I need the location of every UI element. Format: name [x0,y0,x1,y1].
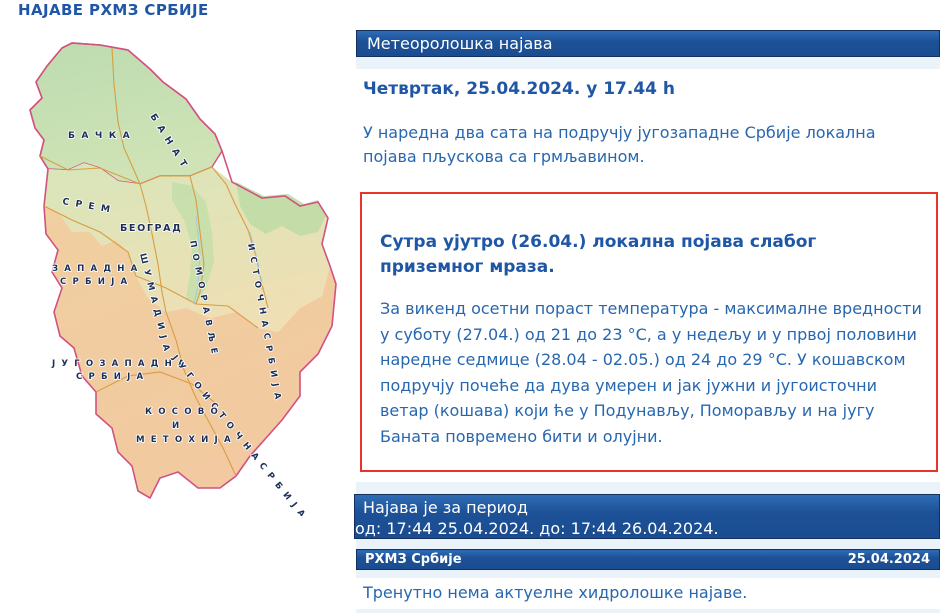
period-banner-underline [356,539,940,549]
map-label-metohija: М Е Т О Х И Ј А [136,435,232,445]
source-banner-underline [356,570,940,578]
page-title: НАЈАВЕ РХМЗ СРБИЈЕ [18,1,209,19]
alert-box: Сутра ујутро (26.04.) локална појава сла… [360,192,938,472]
source-banner-name: РХМЗ Србије [365,552,462,567]
map-label-zapadna-srbija-2: С Р Б И Ј А [60,277,129,287]
map-label-beograd: БЕОГРАД [120,223,182,234]
map-label-zapadna-srbija: З А П А Д Н А [52,264,139,274]
period-banner-spacer [356,482,940,494]
map-label-jugozapadna-srbija: Ј У Г О З А П А Д Н А [51,359,186,369]
map-label-jugozapadna-srbija-2: С Р Б И Ј А [76,372,145,382]
serbia-map-panel: Б А Ч К А Б А Н А Т С Р Е М БЕОГРАД З А … [0,36,350,516]
period-banner-range: од: 17:44 25.04.2024. до: 17:44 26.04.20… [355,518,939,539]
source-banner-date: 25.04.2024 [848,552,930,567]
meteo-banner-label: Метеоролошка најава [367,34,553,53]
map-label-kosovo: К О С О В О [145,407,219,417]
alert-body-text: За викенд осетни пораст температура - ма… [380,296,924,449]
map-label-backa: Б А Ч К А [68,130,131,141]
period-banner-title: Најава је за период [363,497,939,518]
forecast-intro-text: У наредна два сата на подручју југозапад… [363,121,923,169]
region-shape-vojvodina [30,43,222,184]
hydro-note-text: Тренутно нема актуелне хидролошке најаве… [363,583,747,602]
forecast-datetime: Четвртак, 25.04.2024. у 17.44 h [363,79,675,99]
forecast-panel: Метеоролошка најава Четвртак, 25.04.2024… [354,0,940,613]
map-label-kosovo-i: И [172,421,181,431]
serbia-map: Б А Ч К А Б А Н А Т С Р Е М БЕОГРАД З А … [0,36,350,516]
source-banner: РХМЗ Србије 25.04.2024 [356,549,940,570]
meteo-banner-underline [356,57,940,69]
bottom-strip [356,609,940,613]
alert-headline: Сутра ујутро (26.04.) локална појава сла… [380,230,908,280]
meteo-banner: Метеоролошка најава [356,30,940,57]
period-banner: Најава је за период од: 17:44 25.04.2024… [354,494,940,539]
